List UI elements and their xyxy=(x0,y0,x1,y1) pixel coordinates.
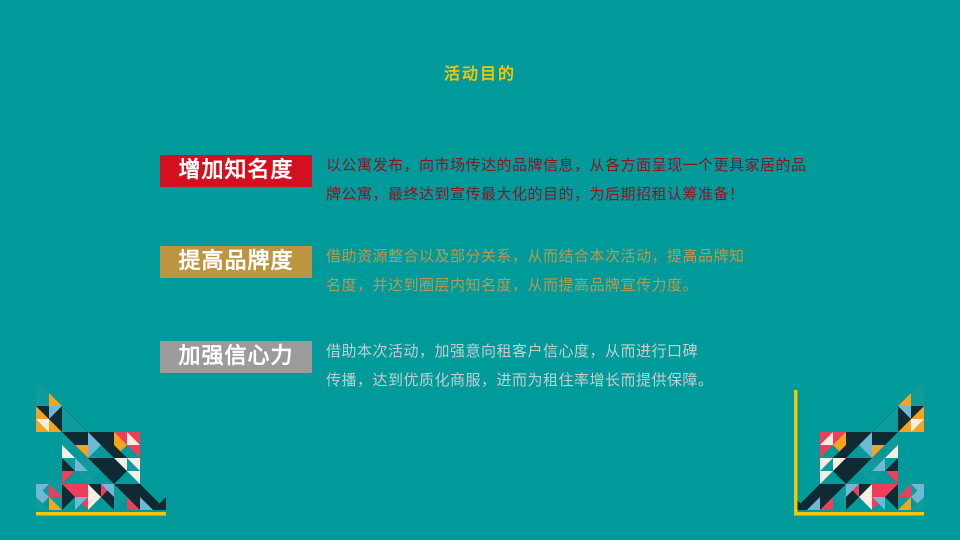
block-2-paragraph: 借助资源整合以及部分关系，从而结合本次活动，提高品牌知 名度，并达到圈层内知名度… xyxy=(326,242,916,300)
block-1-paragraph: 以公寓发布，向市场传达的品牌信息，从各方面呈现一个更具家居的品 牌公寓，最终达到… xyxy=(326,151,916,209)
block-3-line-1: 借助本次活动，加强意向租客户信心度，从而进行口碑 xyxy=(326,337,916,366)
content-block-1: 增加知名度 以公寓发布，向市场传达的品牌信息，从各方面呈现一个更具家居的品 牌公… xyxy=(160,155,920,187)
block-1-line-2: 牌公寓，最终达到宣传最大化的目的，为后期招租认筹准备！ xyxy=(326,180,916,209)
block-2-tag-label: 提高品牌度 xyxy=(160,246,312,278)
block-1-tag-label: 增加知名度 xyxy=(160,155,312,187)
block-2-line-2: 名度，并达到圈层内知名度，从而提高品牌宣传力度。 xyxy=(326,271,916,300)
geometric-mosaic-icon-left xyxy=(18,372,178,532)
page-title: 活动目的 xyxy=(0,60,960,84)
content-block-2: 提高品牌度 借助资源整合以及部分关系，从而结合本次活动，提高品牌知 名度，并达到… xyxy=(160,246,920,278)
geometric-mosaic-icon-right xyxy=(782,372,942,532)
block-3-tag-label: 加强信心力 xyxy=(160,341,312,373)
content-block-3: 加强信心力 借助本次活动，加强意向租客户信心度，从而进行口碑 传播，达到优质化商… xyxy=(160,341,920,373)
block-1-line-1: 以公寓发布，向市场传达的品牌信息，从各方面呈现一个更具家居的品 xyxy=(326,151,916,180)
slide-canvas: 活动目的 增加知名度 以公寓发布，向市场传达的品牌信息，从各方面呈现一个更具家居… xyxy=(0,0,960,540)
block-2-line-1: 借助资源整合以及部分关系，从而结合本次活动，提高品牌知 xyxy=(326,242,916,271)
